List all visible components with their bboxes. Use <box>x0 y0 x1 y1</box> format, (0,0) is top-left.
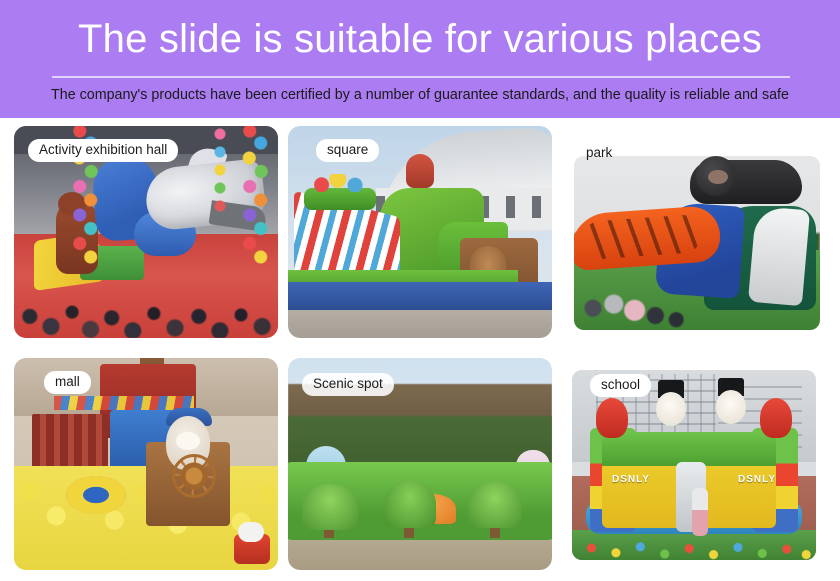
tile-label-mall: mall <box>44 371 91 394</box>
placement-gallery-grid: Activity exhibition hall squa <box>14 126 826 570</box>
tile-label-square: square <box>316 139 379 162</box>
castle-brand-left: DSNLY <box>612 474 650 485</box>
page-title: The slide is suitable for various places <box>0 14 840 64</box>
gallery-tile-activity-exhibition-hall[interactable]: Activity exhibition hall <box>14 126 278 338</box>
castle-brand-right: DSNLY <box>738 474 776 485</box>
tile-label-activity-exhibition-hall: Activity exhibition hall <box>28 139 178 162</box>
gallery-tile-square[interactable]: square <box>288 126 552 338</box>
promo-page: The slide is suitable for various places… <box>0 0 840 581</box>
tile-label-scenic-spot: Scenic spot <box>302 373 394 396</box>
tile-label-school: school <box>590 374 651 397</box>
gallery-tile-park[interactable]: park <box>562 126 826 338</box>
header-banner: The slide is suitable for various places… <box>0 0 840 118</box>
gallery-tile-scenic-spot[interactable]: Scenic spot <box>288 358 552 570</box>
tile-label-park: park <box>584 142 623 165</box>
gallery-tile-school[interactable]: DSNLY DSNLY school <box>562 358 826 570</box>
gallery-tile-mall[interactable]: mall <box>14 358 278 570</box>
page-subtitle: The company's products have been certifi… <box>6 84 833 106</box>
title-divider <box>52 76 790 78</box>
